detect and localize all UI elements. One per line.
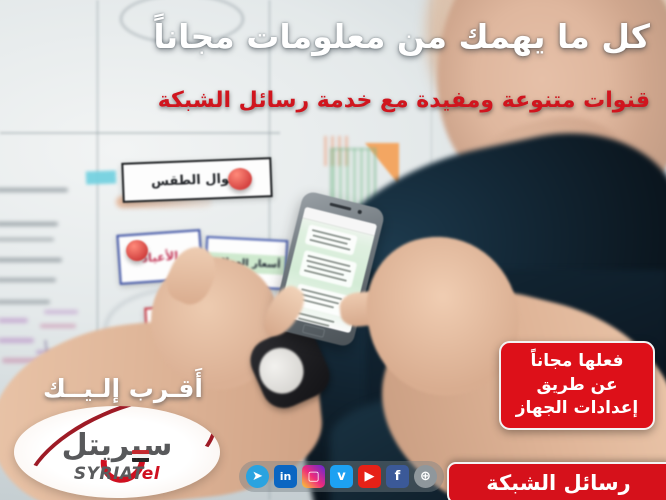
pushpin-red <box>228 168 252 190</box>
youtube-icon[interactable]: ▶ <box>358 465 381 488</box>
marker-stroke <box>0 278 56 282</box>
sticky-note-cyan <box>86 170 116 184</box>
cta-line-3: إعدادات الجهاز <box>516 397 639 420</box>
linkedin-glyph: in <box>280 471 292 482</box>
logo-latin-main: SYRIAT <box>74 464 142 484</box>
pushpin-red <box>126 240 148 261</box>
brand-slogan: أَقـرب إلـيــك <box>18 374 228 403</box>
marker-stroke <box>0 222 58 226</box>
cta-line-2: عن طريق <box>536 374 617 397</box>
marker-stroke <box>40 324 76 328</box>
marker-stroke <box>44 310 78 314</box>
marker-stroke <box>0 338 34 343</box>
marker-stroke <box>0 258 62 262</box>
advertisement-banner: أحوال الطقس الأعياد أسعار العملات جديد س… <box>0 0 666 500</box>
service-name-banner: رسائل الشبكة <box>447 462 666 500</box>
phone-camera <box>357 210 362 215</box>
headline: كل ما يهمك من معلومات مجاناً <box>16 18 650 57</box>
marker-stroke <box>0 238 54 241</box>
social-media-bar[interactable]: ⊕ f ▶ ᴠ ▢ in ➤ <box>239 461 444 492</box>
twitter-glyph: ᴠ <box>337 470 345 483</box>
marker-stroke <box>0 300 50 304</box>
twitter-icon[interactable]: ᴠ <box>330 465 353 488</box>
whiteboard-edge <box>0 132 280 134</box>
facebook-glyph: f <box>395 470 401 483</box>
youtube-glyph: ▶ <box>365 470 375 483</box>
marker-stroke <box>0 188 68 192</box>
syriatel-logo: سيريتل SYRIATel <box>14 406 220 498</box>
cta-badge: فعلها مجاناً عن طريق إعدادات الجهاز <box>499 341 655 430</box>
facebook-icon[interactable]: f <box>386 465 409 488</box>
marker-stroke <box>0 318 28 323</box>
subheadline: قنوات متنوعة ومفيدة مع خدمة رسائل الشبكة <box>16 88 650 114</box>
instagram-glyph: ▢ <box>307 470 319 483</box>
syria-flag-icon <box>132 450 149 462</box>
linkedin-icon[interactable]: in <box>274 465 297 488</box>
instagram-icon[interactable]: ▢ <box>302 465 325 488</box>
globe-glyph: ⊕ <box>420 470 431 483</box>
cta-line-1: فعلها مجاناً <box>530 350 623 373</box>
globe-icon[interactable]: ⊕ <box>414 465 437 488</box>
logo-latin-wordmark: SYRIATel <box>14 464 220 484</box>
telegram-glyph: ➤ <box>252 470 263 483</box>
logo-latin-accent: el <box>142 464 160 484</box>
telegram-icon[interactable]: ➤ <box>246 465 269 488</box>
phone-speaker <box>329 203 351 211</box>
